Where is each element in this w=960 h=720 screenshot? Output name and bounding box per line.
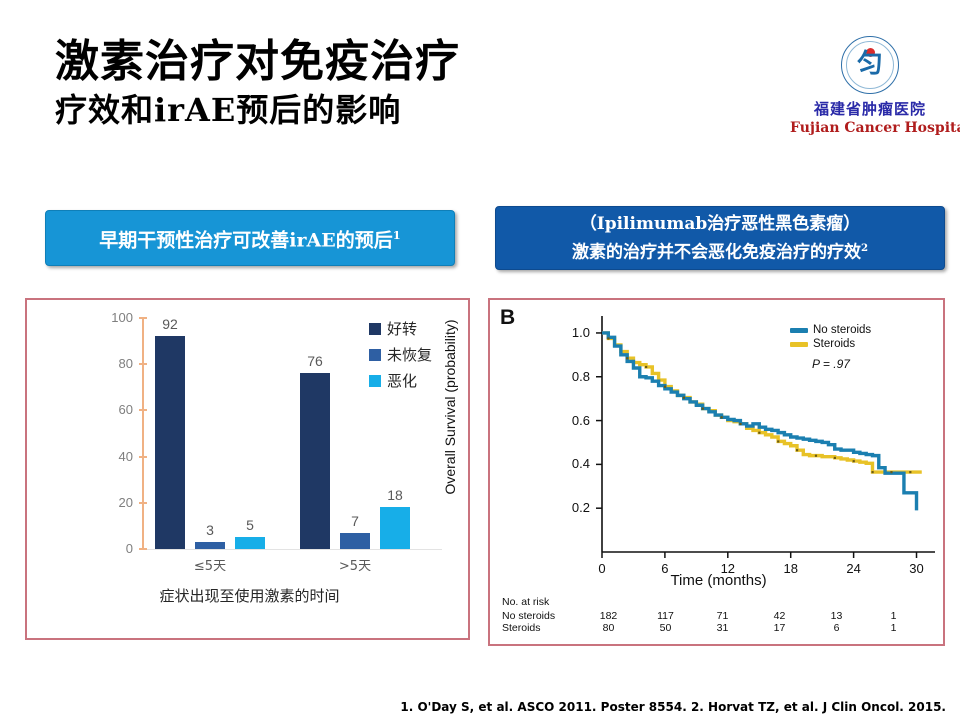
bar-好转: [155, 336, 185, 549]
bar-legend-swatch: [369, 349, 381, 361]
risk-row-label: No steroids: [502, 610, 580, 623]
banner-right-line2: 激素的治疗并不会恶化免疫治疗的疗效: [572, 242, 861, 262]
page-title: 激素治疗对免疫治疗 疗效和irAE预后的影响: [55, 36, 460, 130]
bar-y-tick: [139, 502, 147, 504]
bar-y-tick: [139, 363, 147, 365]
km-x-axis-title: Time (months): [490, 572, 947, 589]
banner-left-text: 早期干预性治疗可改善irAE的预后: [99, 230, 392, 252]
bar-恶化: [380, 507, 410, 549]
bar-baseline: [142, 549, 442, 550]
bar-legend-label: 未恢复: [387, 344, 432, 365]
risk-cell: 80: [580, 622, 637, 635]
logo-name-en: Fujian Cancer Hospital: [790, 120, 950, 136]
km-y-axis-title: Overall Survival (probability): [442, 302, 459, 512]
risk-cell: 13: [808, 610, 865, 623]
bar-恶化: [235, 537, 265, 549]
bar-未恢复: [340, 533, 370, 549]
risk-cell: 17: [751, 622, 808, 635]
km-censor-mark: [702, 408, 704, 410]
logo-glyph: 匀: [841, 51, 899, 77]
bar-value-label: 5: [230, 518, 270, 532]
km-censor-mark: [796, 449, 798, 451]
banner-left-sup: 1: [393, 228, 401, 242]
bar-legend: 好转未恢复恶化: [369, 318, 432, 396]
km-legend-label: No steroids: [813, 324, 871, 336]
bar-legend-item: 好转: [369, 318, 432, 339]
bar-y-tick: [139, 409, 147, 411]
risk-row-label: Steroids: [502, 622, 580, 635]
risk-cell: 50: [637, 622, 694, 635]
title-line-1: 激素治疗对免疫治疗: [55, 36, 460, 88]
slide-canvas: 激素治疗对免疫治疗 疗效和irAE预后的影响 匀 福建省肿瘤医院 Fujian …: [0, 0, 960, 720]
bar-好转: [300, 373, 330, 549]
risk-cell: 6: [808, 622, 865, 635]
km-censor-mark: [815, 455, 817, 457]
risk-table-row: Steroids8050311761: [502, 622, 942, 635]
km-legend-label: Steroids: [813, 338, 855, 350]
bar-未恢复: [195, 542, 225, 549]
bar-y-tick-label: 60: [89, 403, 133, 416]
risk-cell: 71: [694, 610, 751, 623]
bar-y-tick-label: 40: [89, 450, 133, 463]
hospital-logo: 匀 福建省肿瘤医院 Fujian Cancer Hospital: [790, 36, 950, 136]
banner-right-line1: （Ipilimumab治疗恶性黑色素瘤）: [580, 214, 860, 234]
bar-chart-panel: 020406080100 不同结局比例（%） 923576718 ≤5天>5天 …: [25, 298, 470, 640]
bar-value-label: 18: [375, 488, 415, 502]
km-censor-mark: [890, 471, 892, 473]
logo-name-cn: 福建省肿瘤医院: [790, 98, 950, 119]
bar-category-label: >5天: [310, 555, 400, 574]
title-line-2: 疗效和irAE预后的影响: [55, 90, 460, 130]
risk-table-title: No. at risk: [502, 596, 942, 609]
km-legend-item: No steroids: [790, 324, 871, 336]
bar-legend-swatch: [369, 323, 381, 335]
km-censor-mark: [626, 357, 628, 359]
bar-y-tick: [139, 456, 147, 458]
bar-value-label: 7: [335, 514, 375, 528]
bar-value-label: 3: [190, 523, 230, 537]
km-plot-svg: [490, 300, 947, 590]
footer-citation: 1. O'Day S, et al. ASCO 2011. Poster 855…: [0, 700, 946, 714]
bar-legend-label: 好转: [387, 318, 417, 339]
risk-cell: 117: [637, 610, 694, 623]
bar-chart: 020406080100 不同结局比例（%） 923576718 ≤5天>5天 …: [27, 300, 468, 638]
banner-right-sup: 2: [861, 242, 868, 254]
risk-cell: 1: [865, 610, 922, 623]
bar-legend-label: 恶化: [387, 370, 417, 391]
km-censor-mark: [834, 457, 836, 459]
km-censor-mark: [777, 440, 779, 442]
km-censor-mark: [871, 471, 873, 473]
km-censor-mark: [645, 366, 647, 368]
km-censor-mark: [853, 460, 855, 462]
bar-y-tick-label: 0: [89, 542, 133, 555]
bar-y-tick-label: 80: [89, 357, 133, 370]
km-line-steroids: [602, 333, 922, 472]
bar-y-tick: [139, 317, 147, 319]
bar-y-tick-label: 100: [89, 311, 133, 324]
km-risk-table: No. at riskNo steroids1821177142131Stero…: [502, 596, 942, 635]
bar-legend-item: 未恢复: [369, 344, 432, 365]
bar-value-label: 92: [150, 317, 190, 331]
risk-cell: 182: [580, 610, 637, 623]
km-pvalue: P = .97: [812, 357, 871, 371]
km-legend-swatch: [790, 328, 808, 333]
km-censor-mark: [607, 337, 609, 339]
km-censor-mark: [721, 416, 723, 418]
banner-left: 早期干预性治疗可改善irAE的预后1: [45, 210, 455, 266]
risk-cell: 1: [865, 622, 922, 635]
bar-y-tick: [139, 548, 147, 550]
km-censor-mark: [683, 397, 685, 399]
risk-cell: 31: [694, 622, 751, 635]
km-legend-swatch: [790, 342, 808, 347]
bar-legend-item: 恶化: [369, 370, 432, 391]
bar-y-axis: [142, 318, 144, 550]
risk-cell: 42: [751, 610, 808, 623]
banner-right: （Ipilimumab治疗恶性黑色素瘤） 激素的治疗并不会恶化免疫治疗的疗效2: [495, 206, 945, 270]
bar-x-axis-title: 症状出现至使用激素的时间: [27, 585, 472, 606]
bar-y-tick-label: 20: [89, 496, 133, 509]
km-legend: No steroidsSteroidsP = .97: [790, 324, 871, 371]
risk-table-row: No steroids1821177142131: [502, 610, 942, 623]
logo-emblem-icon: 匀: [841, 36, 899, 94]
km-censor-mark: [664, 386, 666, 388]
km-legend-item: Steroids: [790, 338, 871, 350]
bar-value-label: 76: [295, 354, 335, 368]
km-censor-mark: [739, 423, 741, 425]
km-chart-panel: B Overall Survival (probability) 0.20.40…: [488, 298, 945, 646]
km-censor-mark: [758, 432, 760, 434]
km-censor-mark: [909, 471, 911, 473]
bar-legend-swatch: [369, 375, 381, 387]
bar-category-label: ≤5天: [165, 555, 255, 574]
